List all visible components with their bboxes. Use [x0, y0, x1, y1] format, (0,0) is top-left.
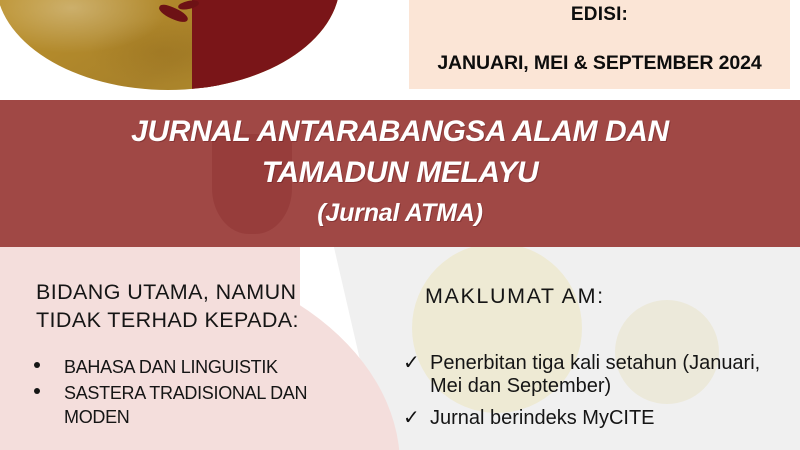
scope-list: BAHASA DAN LINGUISTIK SASTERA TRADISIONA… — [20, 355, 360, 431]
journal-announcement-poster: EDISI: JANUARI, MEI & SEPTEMBER 2024 JUR… — [0, 0, 800, 450]
scope-section: BIDANG UTAMA, NAMUN TIDAK TERHAD KEPADA:… — [0, 247, 400, 450]
edition-label: EDISI: — [571, 4, 628, 26]
list-item: BAHASA DAN LINGUISTIK — [20, 355, 360, 379]
bullet-icon — [34, 362, 40, 368]
scope-item-label: SASTERA TRADISIONAL DAN MODEN — [64, 383, 307, 427]
general-info-list: ✓ Penerbitan tiga kali setahun (Januari,… — [400, 352, 795, 440]
checkmark-icon: ✓ — [403, 408, 420, 428]
edition-banner: EDISI: JANUARI, MEI & SEPTEMBER 2024 — [409, 0, 790, 89]
general-info-heading: MAKLUMAT AM: — [425, 284, 605, 309]
bullet-icon — [34, 388, 40, 394]
general-info-section: MAKLUMAT AM: ✓ Penerbitan tiga kali seta… — [400, 247, 800, 450]
title-band: JURNAL ANTARABANGSA ALAM DAN TAMADUN MEL… — [0, 100, 800, 247]
atma-logo — [0, 0, 340, 90]
info-item-line-1: Penerbitan tiga kali setahun — [430, 352, 677, 374]
edition-value: JANUARI, MEI & SEPTEMBER 2024 — [437, 52, 761, 75]
journal-title-line-1: JURNAL ANTARABANGSA ALAM DAN — [131, 116, 669, 148]
journal-title-line-2: TAMADUN MELAYU — [262, 157, 539, 189]
scope-heading: BIDANG UTAMA, NAMUN TIDAK TERHAD KEPADA: — [36, 279, 366, 335]
list-item: ✓ Penerbitan tiga kali setahun (Januari,… — [400, 352, 795, 398]
info-item-line-1: Jurnal berindeks MyCITE — [430, 407, 655, 429]
checkmark-icon: ✓ — [403, 353, 420, 373]
scope-item-label: BAHASA DAN LINGUISTIK — [64, 357, 278, 377]
journal-title-subtitle: (Jurnal ATMA) — [317, 199, 482, 228]
logo-red-subnotch — [202, 0, 219, 90]
list-item: ✓ Jurnal berindeks MyCITE — [400, 407, 795, 430]
list-item: SASTERA TRADISIONAL DAN MODEN — [20, 381, 360, 429]
